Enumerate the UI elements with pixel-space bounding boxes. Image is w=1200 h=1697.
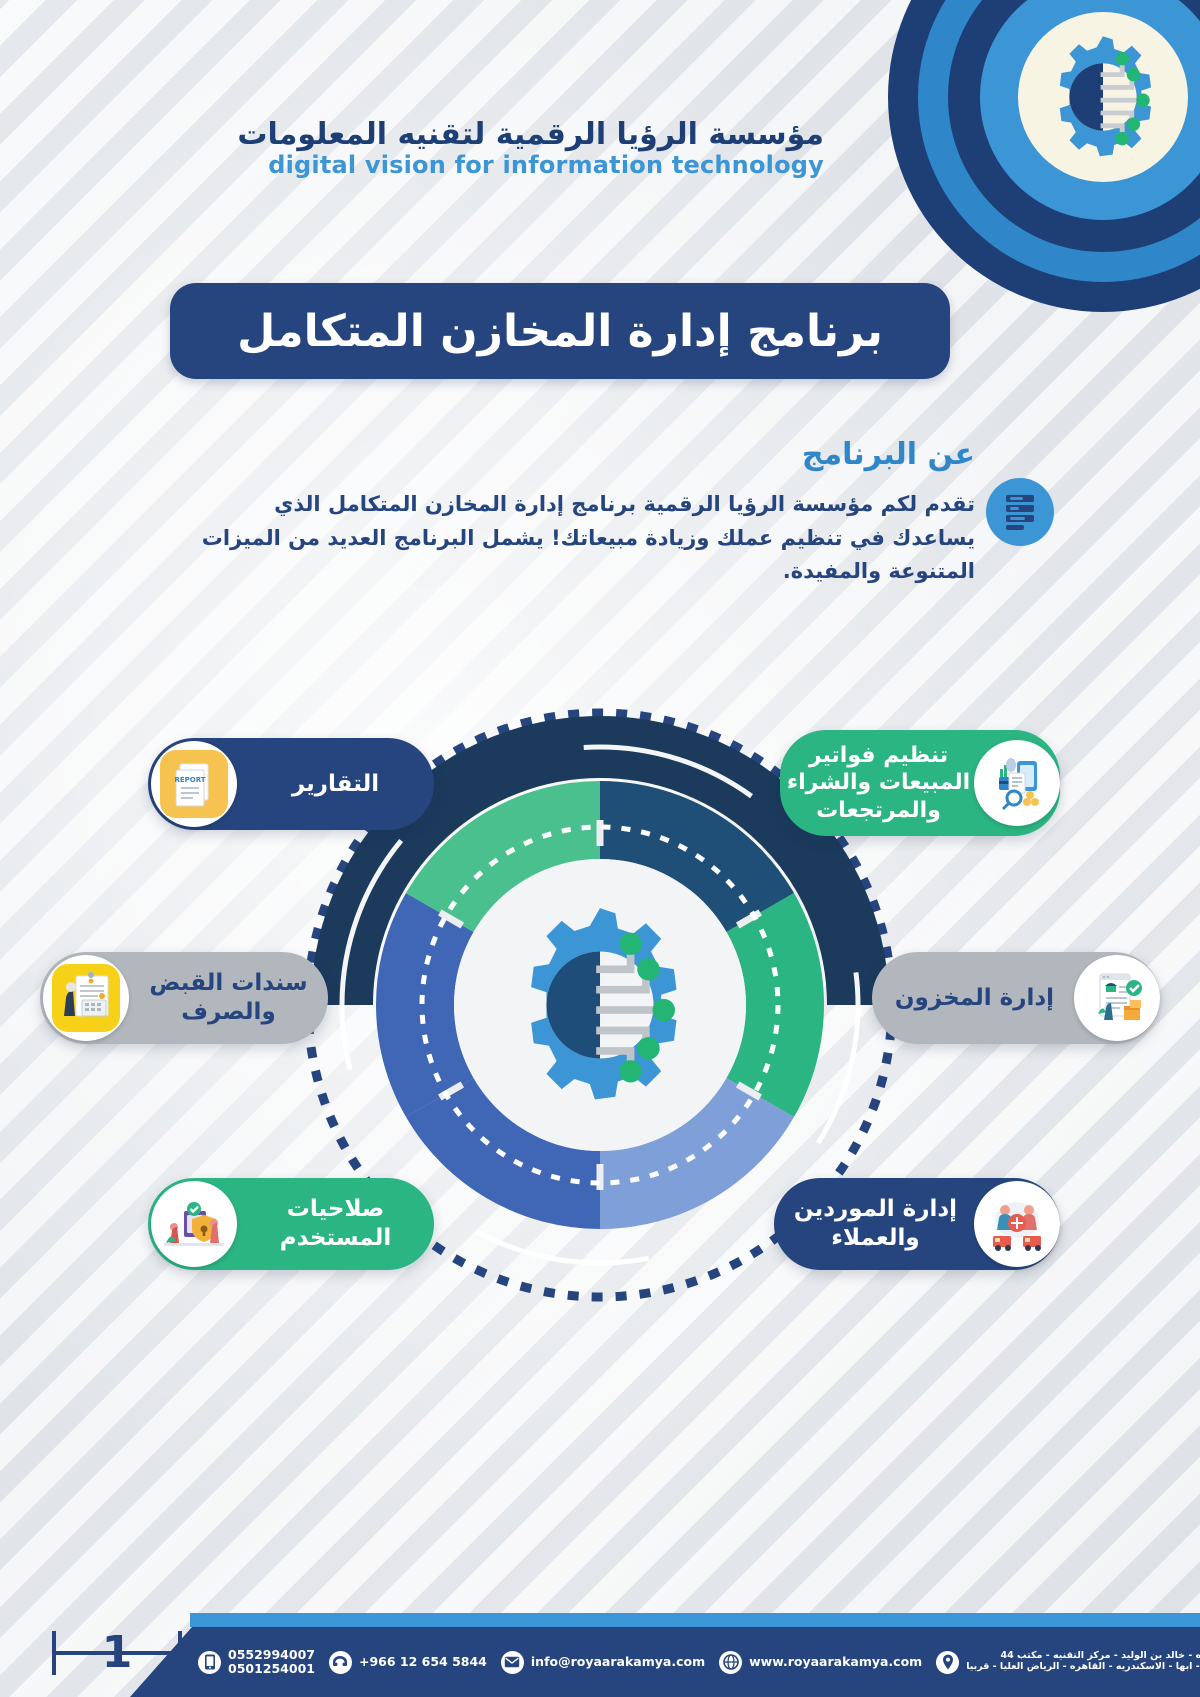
page-number-mark: 1 (52, 1623, 182, 1683)
feature-pill-reports[interactable]: REPORT التقارير (148, 738, 434, 830)
globe-icon (719, 1651, 742, 1674)
footer-email-text: info@royaarakamya.com (531, 1655, 705, 1669)
brand-name-arabic: مؤسسة الرؤيا الرقمية لتقنيه المعلومات (237, 118, 824, 152)
footer-email[interactable]: info@royaarakamya.com (501, 1651, 705, 1674)
footer-website[interactable]: www.royaarakamya.com (719, 1651, 922, 1674)
page-title: برنامج إدارة المخازن المتكامل (237, 306, 883, 357)
footer-address: المقر الرئيسي : جده - خالد بن الوليد - م… (936, 1651, 1200, 1674)
telephone-icon (329, 1651, 352, 1674)
svg-text:REPORT: REPORT (174, 776, 205, 784)
feature-pill-invoices[interactable]: تنظيم فواتير المبيعات والشراء والمرتجعات (780, 730, 1060, 836)
feature-label-receipts: سندات القبض والصرف (129, 969, 328, 1027)
page-title-banner: برنامج إدارة المخازن المتكامل (170, 283, 950, 379)
feature-label-suppliers: إدارة الموردين والعملاء (777, 1195, 974, 1253)
envelope-icon (501, 1651, 524, 1674)
feature-label-reports: التقارير (237, 770, 434, 799)
footer-mobile-line1: 0552994007 (228, 1648, 315, 1662)
about-description: تقدم لكم مؤسسة الرؤيا الرقمية برنامج إدا… (195, 488, 975, 589)
wheel-center-gear-circuit-icon (531, 908, 676, 1099)
user-shield-lock-icon (151, 1181, 237, 1267)
feature-pill-permissions[interactable]: صلاحيات المستخدم (148, 1178, 434, 1270)
footer: 0552994007 0501254001 +966 12 654 5844 i… (0, 1613, 1200, 1697)
footer-website-text: www.royaarakamya.com (749, 1655, 922, 1669)
feature-pill-receipts[interactable]: سندات القبض والصرف (40, 952, 328, 1044)
footer-mobile-text: 0552994007 0501254001 (228, 1648, 315, 1677)
server-list-icon (986, 478, 1054, 546)
about-heading: عن البرنامج (802, 437, 975, 472)
footer-address-line2: الفروع :جده - تبوك - ابها - الاسكندريه -… (966, 1662, 1200, 1673)
mobile-icon (198, 1651, 221, 1674)
gear-circuit-logo-icon (1018, 12, 1188, 182)
footer-mobile[interactable]: 0552994007 0501254001 (198, 1648, 315, 1677)
location-pin-icon (936, 1651, 959, 1674)
feature-pill-suppliers[interactable]: إدارة الموردين والعملاء (774, 1178, 1060, 1270)
page-mark-right-bar (178, 1631, 182, 1675)
receipt-voucher-icon (43, 955, 129, 1041)
footer-phone[interactable]: +966 12 654 5844 (329, 1651, 487, 1674)
feature-label-invoices: تنظيم فواتير المبيعات والشراء والمرتجعات (783, 742, 974, 825)
feature-pill-inventory[interactable]: إدارة المخزون (872, 952, 1160, 1044)
brand-name-english: digital vision for information technolog… (237, 152, 824, 179)
feature-label-inventory: إدارة المخزون (875, 984, 1074, 1013)
page-mark-horizontal-bar (52, 1651, 182, 1655)
footer-mobile-line2: 0501254001 (228, 1662, 315, 1676)
company-logo (888, 0, 1200, 312)
feature-label-permissions: صلاحيات المستخدم (237, 1195, 434, 1253)
invoice-ecommerce-icon (974, 740, 1060, 826)
report-document-icon: REPORT (151, 741, 237, 827)
suppliers-handshake-icon (974, 1181, 1060, 1267)
brand-title-block: مؤسسة الرؤيا الرقمية لتقنيه المعلومات di… (237, 118, 824, 178)
inventory-boxes-icon (1074, 955, 1160, 1041)
footer-accent-bar (190, 1613, 1200, 1627)
footer-phone-text: +966 12 654 5844 (359, 1655, 487, 1669)
footer-address-text: المقر الرئيسي : جده - خالد بن الوليد - م… (966, 1651, 1200, 1673)
